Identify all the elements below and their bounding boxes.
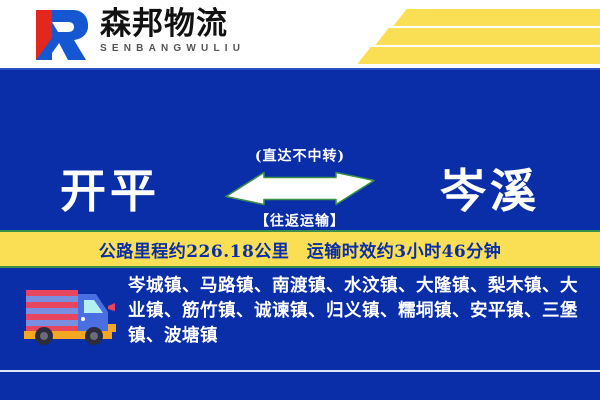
logistics-route-banner: 森邦物流 SENBANGWULIU 开平 (直达不中转) 【往返运输】 岑溪 公… bbox=[0, 0, 600, 400]
decorative-stripes bbox=[330, 0, 600, 70]
stripe-3 bbox=[357, 47, 600, 64]
roundtrip-label: 【往返运输】 bbox=[210, 211, 390, 231]
destination-city: 岑溪 bbox=[440, 155, 540, 221]
truck-illustration-wrap bbox=[0, 268, 128, 351]
brand-logo-group[interactable]: 森邦物流 SENBANGWULIU bbox=[32, 8, 245, 62]
bottom-divider bbox=[0, 370, 600, 372]
coverage-towns-section: 岑城镇、马路镇、南渡镇、水汶镇、大隆镇、梨木镇、大业镇、筋竹镇、诚谏镇、归义镇、… bbox=[0, 268, 600, 370]
double-headed-arrow-icon bbox=[224, 172, 376, 206]
brand-text: 森邦物流 SENBANGWULIU bbox=[100, 8, 245, 54]
brand-name-en: SENBANGWULIU bbox=[100, 43, 245, 54]
route-arrow-block: (直达不中转) 【往返运输】 bbox=[210, 146, 390, 231]
stripe-2 bbox=[375, 28, 600, 45]
distance-and-duration-text: 公路里程约226.18公里 运输时效约3小时46分钟 bbox=[99, 237, 502, 262]
route-info-bar: 公路里程约226.18公里 运输时效约3小时46分钟 bbox=[0, 230, 600, 268]
delivery-truck-icon bbox=[22, 282, 118, 346]
brand-name-cn: 森邦物流 bbox=[100, 8, 245, 41]
coverage-towns-list: 岑城镇、马路镇、南渡镇、水汶镇、大隆镇、梨木镇、大业镇、筋竹镇、诚谏镇、归义镇、… bbox=[128, 268, 600, 349]
stripe-1 bbox=[393, 9, 600, 26]
origin-city: 开平 bbox=[60, 155, 160, 221]
senbang-r-logo-icon bbox=[32, 8, 90, 62]
direct-service-label: (直达不中转) bbox=[210, 146, 390, 166]
banner-header: 森邦物流 SENBANGWULIU bbox=[0, 0, 600, 70]
route-row: 开平 (直达不中转) 【往返运输】 岑溪 bbox=[0, 70, 600, 222]
